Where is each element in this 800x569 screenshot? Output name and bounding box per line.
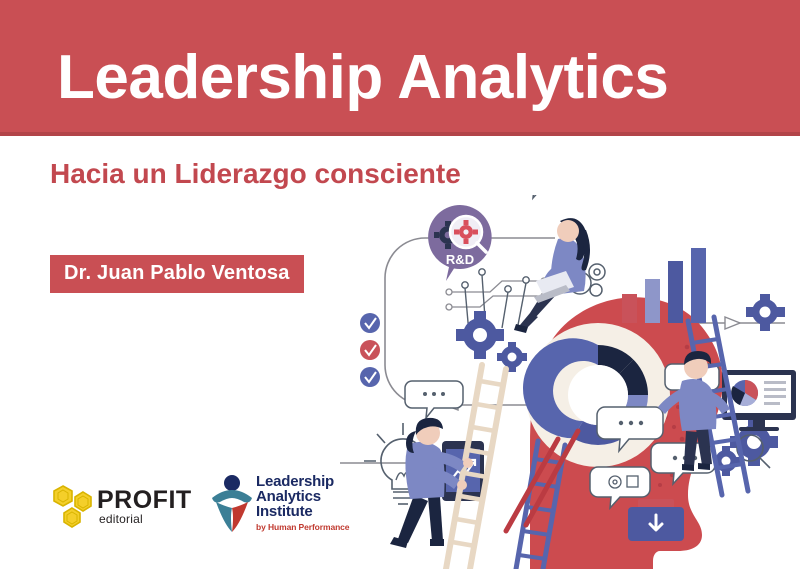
lai-line-1: Leadership [256,474,334,489]
lai-tagline: by Human Performance [256,522,349,532]
lai-line-3: Institute [256,504,334,519]
bar-3 [668,261,683,323]
gear-icon [746,294,785,331]
bar-4 [691,248,706,323]
check-circle-icon [360,367,380,387]
page-title: Leadership Analytics [57,47,668,109]
rd-badge-label: R&D [446,252,474,267]
lai-left-body [216,502,232,532]
circuit-lines [446,278,547,310]
arrow-head-icon [725,317,740,329]
profit-tagline: editorial [99,512,143,526]
profit-wordmark: PROFIT [97,486,192,515]
lai-figure-mark [210,474,254,534]
cover-illustration: R&D [330,195,800,569]
speech-bubble-icon [512,195,566,198]
check-circle-icon [360,313,380,333]
lai-wordmark: Leadership Analytics Institute [256,474,334,519]
speech-bubble-icon [405,381,463,418]
checklist-icons [360,313,380,387]
gear-icon [456,311,527,372]
check-circle-icon [360,340,380,360]
lai-line-2: Analytics [256,489,334,504]
profit-editorial-logo: PROFIT editorial [52,484,192,532]
band-bottom-shadow [0,132,800,136]
bar-2 [645,279,660,323]
lai-head-shape [224,475,240,491]
book-subtitle: Hacia un Liderazgo consciente [50,158,461,190]
profit-hexagon-mark [52,484,94,528]
bar-1 [622,294,637,323]
person-pushing-ladder [390,418,473,548]
book-cover: Leadership Analytics Hacia un Liderazgo … [0,0,800,569]
author-badge: Dr. Juan Pablo Ventosa [50,255,304,293]
leadership-analytics-institute-logo: Leadership Analytics Institute by Human … [210,474,350,540]
lai-right-body [232,502,248,532]
lai-arms-shape [212,490,252,503]
